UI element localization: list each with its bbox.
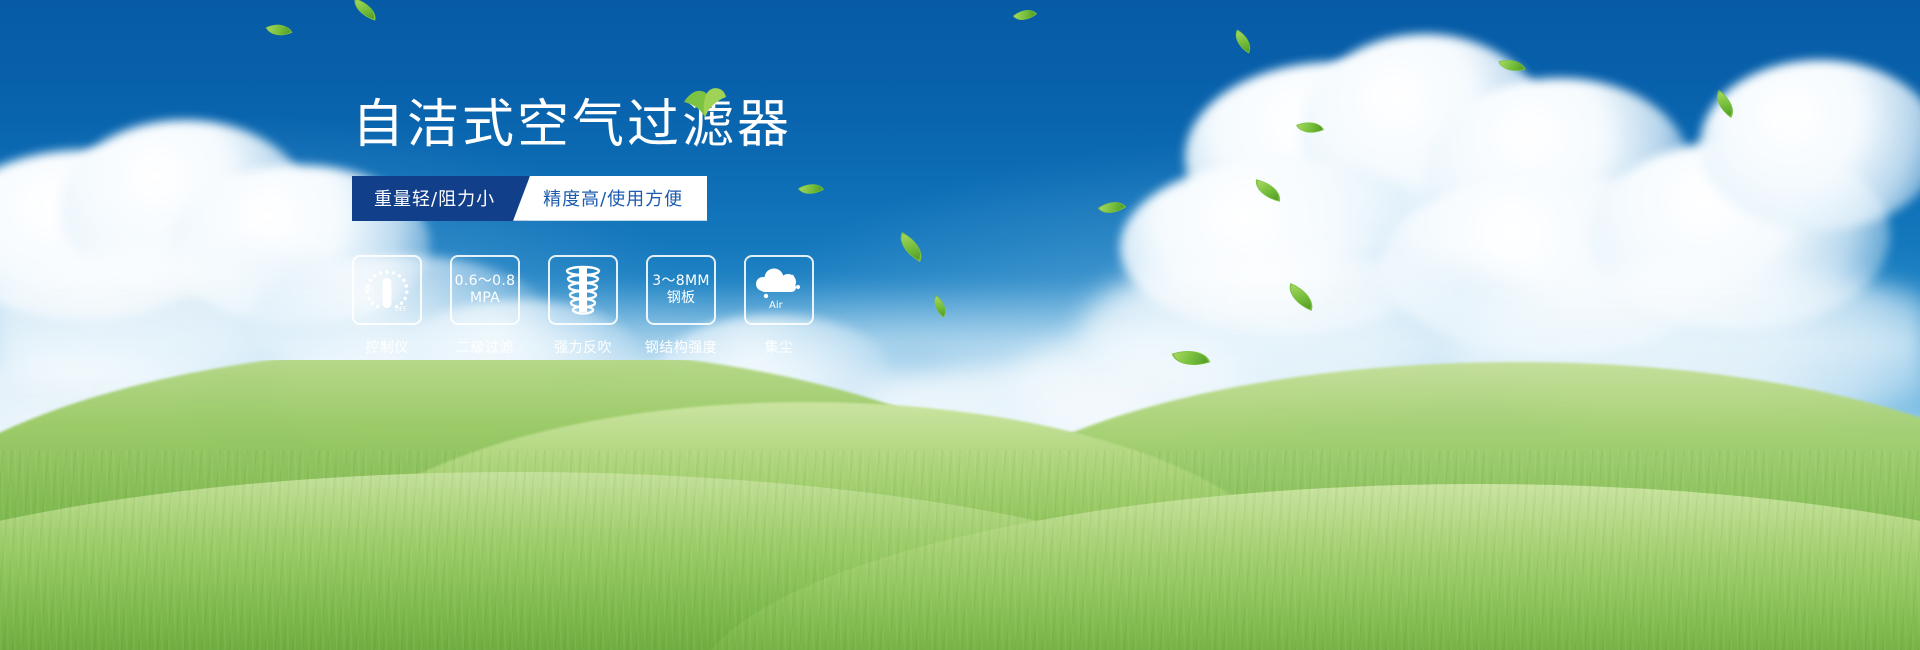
dial-gauge-icon: NO OFF <box>360 263 414 317</box>
feature-label: 钢结构强度 <box>645 337 718 357</box>
feature-label: 强力反吹 <box>554 337 612 357</box>
pressure-unit: MPA <box>470 290 500 307</box>
tagline-primary[interactable]: 重量轻/阻力小 <box>352 176 529 221</box>
dial-on-label: NO <box>364 285 374 293</box>
feature-list: NO OFF 控制仪 0.6～0.8 MPA 二级过滤 <box>352 255 1072 357</box>
feature-item-steel[interactable]: 3～8MM 钢板 钢结构强度 <box>646 255 716 357</box>
banner-content: 自洁式空气过滤器 重量轻/阻力小 精度高/使用方便 <box>352 96 1072 357</box>
feature-label: 控制仪 <box>365 337 409 357</box>
feature-icon-box <box>548 255 618 325</box>
feature-icon-box: Air <box>744 255 814 325</box>
feature-item-control[interactable]: NO OFF 控制仪 <box>352 255 422 357</box>
air-label: Air <box>769 300 784 311</box>
dial-off-label: OFF <box>395 306 407 313</box>
feature-item-pressure[interactable]: 0.6～0.8 MPA 二级过滤 <box>450 255 520 357</box>
feature-icon-box: 0.6～0.8 MPA <box>450 255 520 325</box>
tagline-primary-label: 重量轻/阻力小 <box>374 185 495 211</box>
filter-cartridge-icon <box>558 264 608 316</box>
feature-item-backblow[interactable]: 强力反吹 <box>548 255 618 357</box>
hero-banner: 自洁式空气过滤器 重量轻/阻力小 精度高/使用方便 <box>0 0 1920 650</box>
tagline-secondary[interactable]: 精度高/使用方便 <box>513 176 707 221</box>
feature-item-dust[interactable]: Air 集尘 <box>744 255 814 357</box>
grass-texture <box>0 450 1920 650</box>
steel-thickness: 3～8MM <box>652 273 709 290</box>
feature-icon-box: NO OFF <box>352 255 422 325</box>
pressure-value: 0.6～0.8 <box>455 273 516 290</box>
tagline-row: 重量轻/阻力小 精度高/使用方便 <box>352 176 1072 221</box>
feature-icon-box: 3～8MM 钢板 <box>646 255 716 325</box>
tagline-secondary-label: 精度高/使用方便 <box>543 185 683 211</box>
dust-cloud-icon: Air <box>752 267 806 313</box>
feature-label: 二级过滤 <box>456 337 514 357</box>
grass-landscape <box>0 360 1920 650</box>
steel-material: 钢板 <box>667 290 696 307</box>
feature-label: 集尘 <box>765 337 794 357</box>
title-leaf-icon <box>682 84 728 118</box>
